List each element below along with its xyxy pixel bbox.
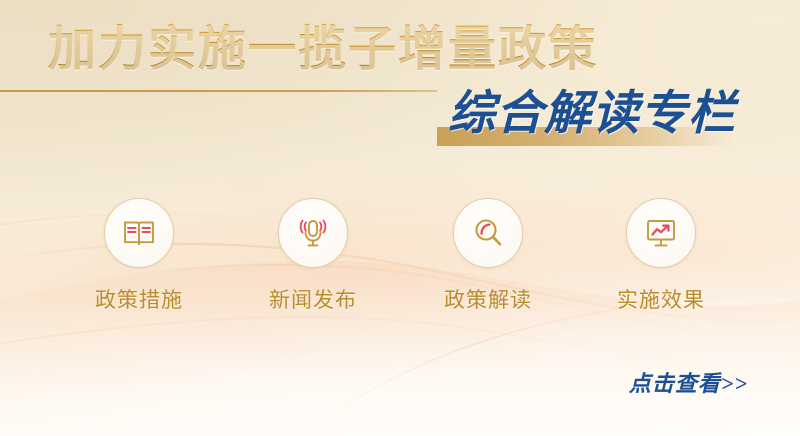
magnifier-icon: [470, 215, 506, 251]
quick-link-label: 新闻发布: [233, 284, 393, 314]
icon-circle: [626, 198, 696, 268]
quick-link-label: 政策解读: [408, 284, 568, 314]
page-title-line1: 加力实施一揽子增量政策: [48, 22, 598, 78]
icon-circle: [453, 198, 523, 268]
icon-circle: [104, 198, 174, 268]
open-book-icon: [121, 215, 157, 251]
headline-divider-rule: [0, 90, 437, 92]
icon-circle: [278, 198, 348, 268]
quick-link-news-release[interactable]: 新闻发布: [233, 198, 393, 314]
quick-link-label: 政策措施: [59, 284, 219, 314]
quick-link-policy-measures[interactable]: 政策措施: [59, 198, 219, 314]
quick-link-label: 实施效果: [581, 284, 741, 314]
quick-link-implementation-effect[interactable]: 实施效果: [581, 198, 741, 314]
quick-links-row: 政策措施 新闻发布: [0, 198, 800, 328]
microphone-icon: [295, 215, 331, 251]
policy-banner: 加力实施一揽子增量政策 综合解读专栏 政策措施: [0, 0, 800, 436]
chart-monitor-icon: [643, 215, 679, 251]
page-title-line2: 综合解读专栏: [448, 86, 736, 142]
quick-link-policy-interpretation[interactable]: 政策解读: [408, 198, 568, 314]
click-to-view-link[interactable]: 点击查看>>: [629, 366, 748, 398]
